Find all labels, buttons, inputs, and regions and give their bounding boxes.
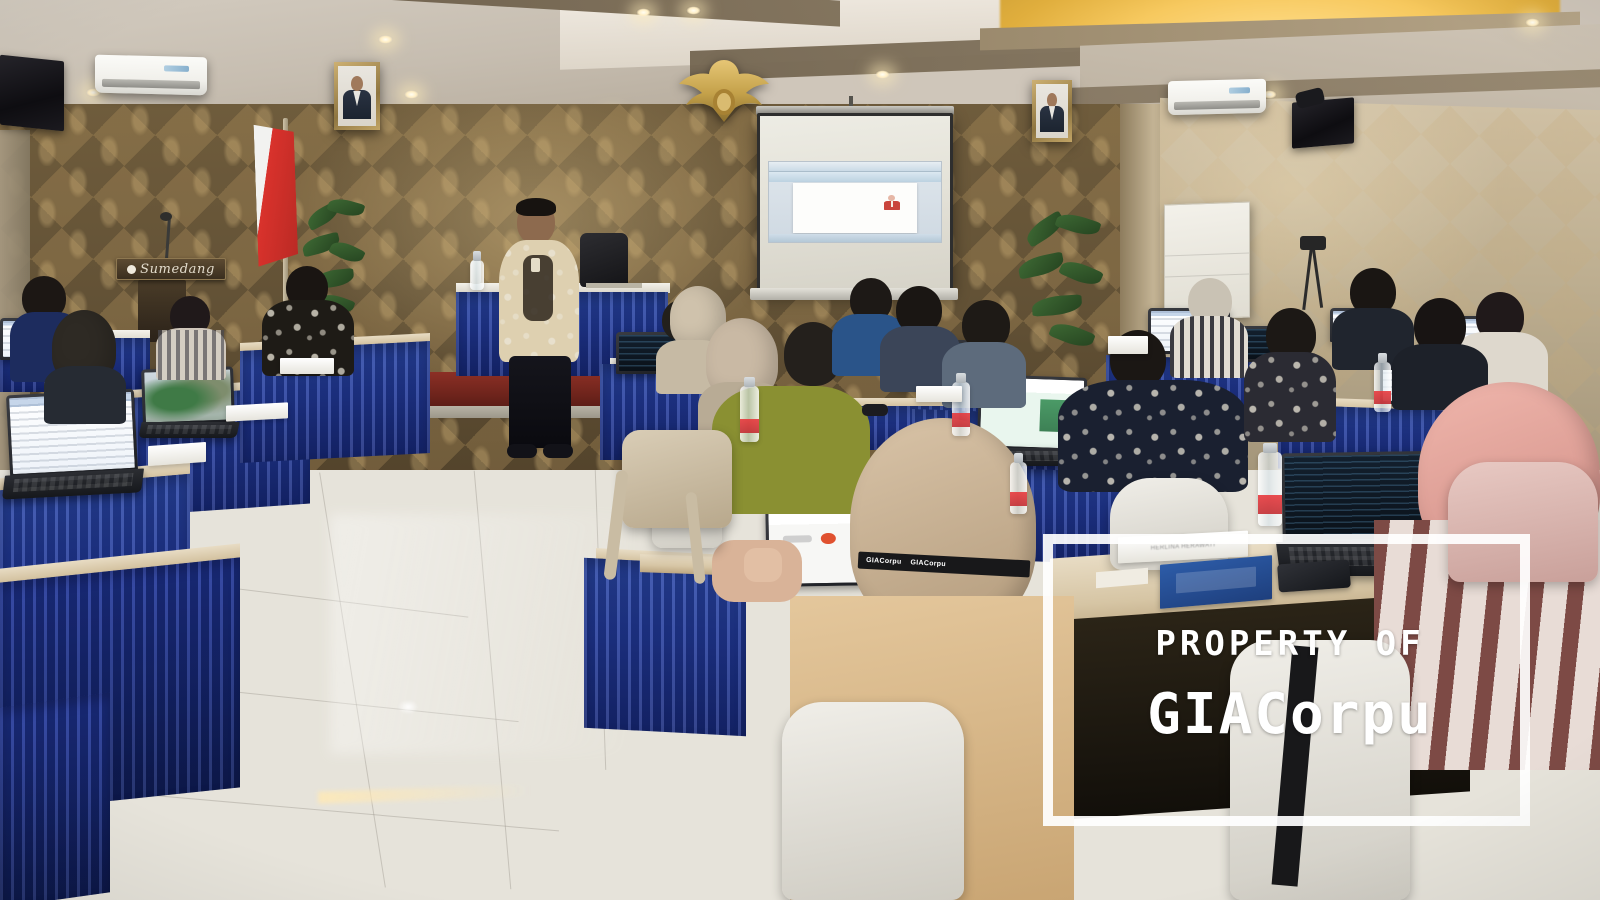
participant-torso [44, 366, 126, 424]
official-portrait-right [1032, 80, 1072, 142]
participant-batik-torso [1058, 380, 1248, 492]
wall-speaker-left [0, 55, 64, 132]
conference-chair [1230, 640, 1410, 900]
presenter-shoe-left [507, 444, 537, 458]
downlight [1525, 18, 1540, 27]
document-person-figure [884, 195, 900, 210]
name-tent-card [226, 402, 288, 421]
water-bottle [740, 386, 759, 442]
participant-shirt-stripes [158, 330, 224, 380]
portrait-image-right [1036, 84, 1068, 138]
name-tent-card [148, 442, 206, 466]
water-bottle [1258, 452, 1282, 526]
presenter-shoe-right [543, 444, 573, 458]
presenter-hands [531, 258, 540, 272]
projected-document-window [768, 161, 943, 244]
lectern-microphone-head [160, 212, 172, 221]
name-tent-card [1108, 336, 1148, 354]
name-tent-card [280, 358, 334, 374]
ac-display-left [164, 65, 189, 72]
lectern-logo-icon [127, 265, 136, 274]
presenter [495, 200, 587, 466]
indonesian-flag [254, 123, 299, 266]
document-ribbon-toolbar [769, 172, 942, 182]
lanyard-text: GIACorpu [866, 557, 902, 566]
water-bottle [1374, 362, 1391, 412]
presenter-hair [516, 198, 556, 216]
document-title-bar [769, 162, 942, 172]
participant-striped-shirt [1170, 316, 1248, 378]
smartphone [1277, 560, 1351, 593]
downlight [404, 90, 419, 99]
downlight [378, 35, 393, 44]
participant-batik-torso [1244, 352, 1336, 442]
camera-tripod-head [1300, 236, 1326, 250]
participant-hand [744, 548, 782, 582]
downlight [686, 6, 701, 15]
backpack [622, 430, 732, 528]
name-tent-card-text: HERLINA HERAWATI [1151, 542, 1216, 551]
conference-chair [1448, 462, 1598, 582]
split-ac-unit-left [95, 55, 207, 96]
floor-light-reflection [398, 700, 418, 714]
ac-vent-left [102, 78, 201, 89]
ac-vent-right [1174, 100, 1260, 110]
conference-chair [782, 702, 964, 900]
lectern-nameplate-text: Sumedang [140, 262, 215, 277]
portrait-image-left [338, 66, 376, 126]
lectern-nameplate: Sumedang [116, 258, 226, 280]
water-bottle [1010, 462, 1027, 514]
table-skirt [0, 692, 110, 900]
computer-mouse [862, 404, 888, 416]
ac-display-right [1229, 87, 1251, 93]
photograph-training-room: Sumedang [0, 0, 1600, 900]
office-chair-behind-head-table [580, 233, 628, 287]
document-page [793, 183, 917, 232]
lanyard-text: GIACorpu [910, 559, 946, 568]
name-tent-card [916, 386, 962, 402]
laptop-keyboard [138, 422, 239, 438]
downlight [636, 8, 651, 17]
head-table-item [586, 283, 642, 288]
potted-plant-right [1016, 216, 1112, 366]
projector-screen-surface [760, 116, 950, 288]
floor-cove-reflection [318, 784, 530, 803]
official-portrait-left [334, 62, 380, 130]
document-status-bar [769, 234, 942, 242]
presenter-trousers [509, 356, 571, 448]
projector-screen [757, 113, 953, 291]
participant-olive-shirt [712, 386, 870, 514]
downlight [875, 70, 890, 79]
water-bottle [470, 260, 484, 290]
split-ac-unit-right [1168, 79, 1266, 115]
